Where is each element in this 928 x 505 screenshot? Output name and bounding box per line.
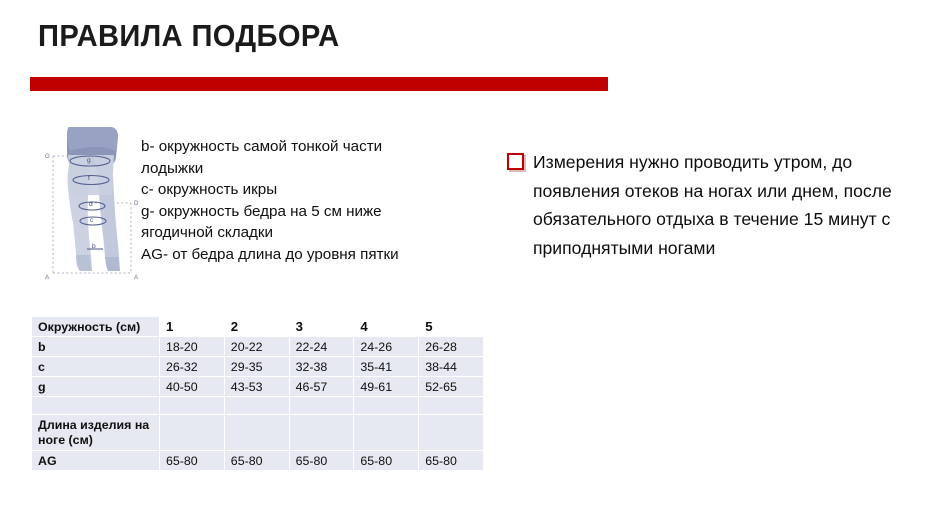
cell-ag-2: 65-80 — [224, 451, 289, 471]
cell-b-2: 20-22 — [224, 337, 289, 357]
spacer-cell-1 — [160, 397, 225, 415]
size-chart-table: Окружность (см) 1 2 3 4 5 b 18-20 20-22 … — [31, 316, 484, 471]
measurement-advice-bullet: Измерения нужно проводить утром, до появ… — [507, 148, 907, 262]
table-spacer-row — [32, 397, 484, 415]
diagram-label-A-right: A — [134, 274, 139, 281]
cell-b-4: 24-26 — [354, 337, 419, 357]
row-label-ag: AG — [32, 451, 160, 471]
table-header-col-2: 2 — [224, 317, 289, 337]
cell-c-5: 38-44 — [419, 357, 484, 377]
diagram-label-A-left: A — [45, 274, 50, 281]
cell-ag-5: 65-80 — [419, 451, 484, 471]
bullet-text: Измерения нужно проводить утром, до появ… — [533, 148, 907, 262]
section-cell-3 — [289, 415, 354, 451]
spacer-cell-5 — [419, 397, 484, 415]
spacer-label — [32, 397, 160, 415]
table-section-row: Длина изделия на ноге (см) — [32, 415, 484, 451]
cell-ag-4: 65-80 — [354, 451, 419, 471]
page-title: ПРАВИЛА ПОДБОРА — [38, 18, 340, 54]
cell-b-5: 26-28 — [419, 337, 484, 357]
cell-b-3: 22-24 — [289, 337, 354, 357]
row-label-g: g — [32, 377, 160, 397]
title-accent-rule — [30, 77, 608, 91]
cell-ag-3: 65-80 — [289, 451, 354, 471]
table-header-col-4: 4 — [354, 317, 419, 337]
table-header-col-3: 3 — [289, 317, 354, 337]
cell-c-2: 29-35 — [224, 357, 289, 377]
legend-line-g: g- окружность бедра на 5 см ниже ягодичн… — [141, 201, 441, 244]
section-cell-4 — [354, 415, 419, 451]
cell-c-1: 26-32 — [160, 357, 225, 377]
diagram-label-c: c — [90, 217, 94, 224]
row-label-c: c — [32, 357, 160, 377]
cell-g-4: 49-61 — [354, 377, 419, 397]
legend-line-ag: AG- от бедра длина до уровня пятки — [141, 244, 441, 266]
cell-b-1: 18-20 — [160, 337, 225, 357]
table-row: AG 65-80 65-80 65-80 65-80 65-80 — [32, 451, 484, 471]
diagram-label-d: d — [89, 201, 93, 208]
section-cell-2 — [224, 415, 289, 451]
diagram-label-b: b — [92, 243, 96, 250]
section-cell-1 — [160, 415, 225, 451]
cell-g-1: 40-50 — [160, 377, 225, 397]
leg-measurement-diagram: g f d c b G D A A — [42, 121, 147, 293]
cell-ag-1: 65-80 — [160, 451, 225, 471]
square-bullet-icon — [507, 153, 524, 170]
table-header-col-1: 1 — [160, 317, 225, 337]
row-label-b: b — [32, 337, 160, 357]
diagram-label-G: G — [45, 153, 50, 160]
table-row: c 26-32 29-35 32-38 35-41 38-44 — [32, 357, 484, 377]
cell-g-5: 52-65 — [419, 377, 484, 397]
table-row: b 18-20 20-22 22-24 24-26 26-28 — [32, 337, 484, 357]
table-header-row: Окружность (см) 1 2 3 4 5 — [32, 317, 484, 337]
cell-c-4: 35-41 — [354, 357, 419, 377]
diagram-label-D: D — [134, 200, 139, 207]
measurement-legend: b- окружность самой тонкой части лодыжки… — [141, 136, 441, 265]
diagram-label-g: g — [87, 157, 91, 164]
diagram-label-f: f — [88, 175, 90, 182]
section-cell-5 — [419, 415, 484, 451]
table-row: g 40-50 43-53 46-57 49-61 52-65 — [32, 377, 484, 397]
table-header-label: Окружность (см) — [32, 317, 160, 337]
cell-g-3: 46-57 — [289, 377, 354, 397]
spacer-cell-4 — [354, 397, 419, 415]
spacer-cell-2 — [224, 397, 289, 415]
table-header-col-5: 5 — [419, 317, 484, 337]
section-label-length: Длина изделия на ноге (см) — [32, 415, 160, 451]
spacer-cell-3 — [289, 397, 354, 415]
legend-line-b: b- окружность самой тонкой части лодыжки — [141, 136, 441, 179]
cell-c-3: 32-38 — [289, 357, 354, 377]
legend-line-c: c- окружность икры — [141, 179, 441, 201]
cell-g-2: 43-53 — [224, 377, 289, 397]
